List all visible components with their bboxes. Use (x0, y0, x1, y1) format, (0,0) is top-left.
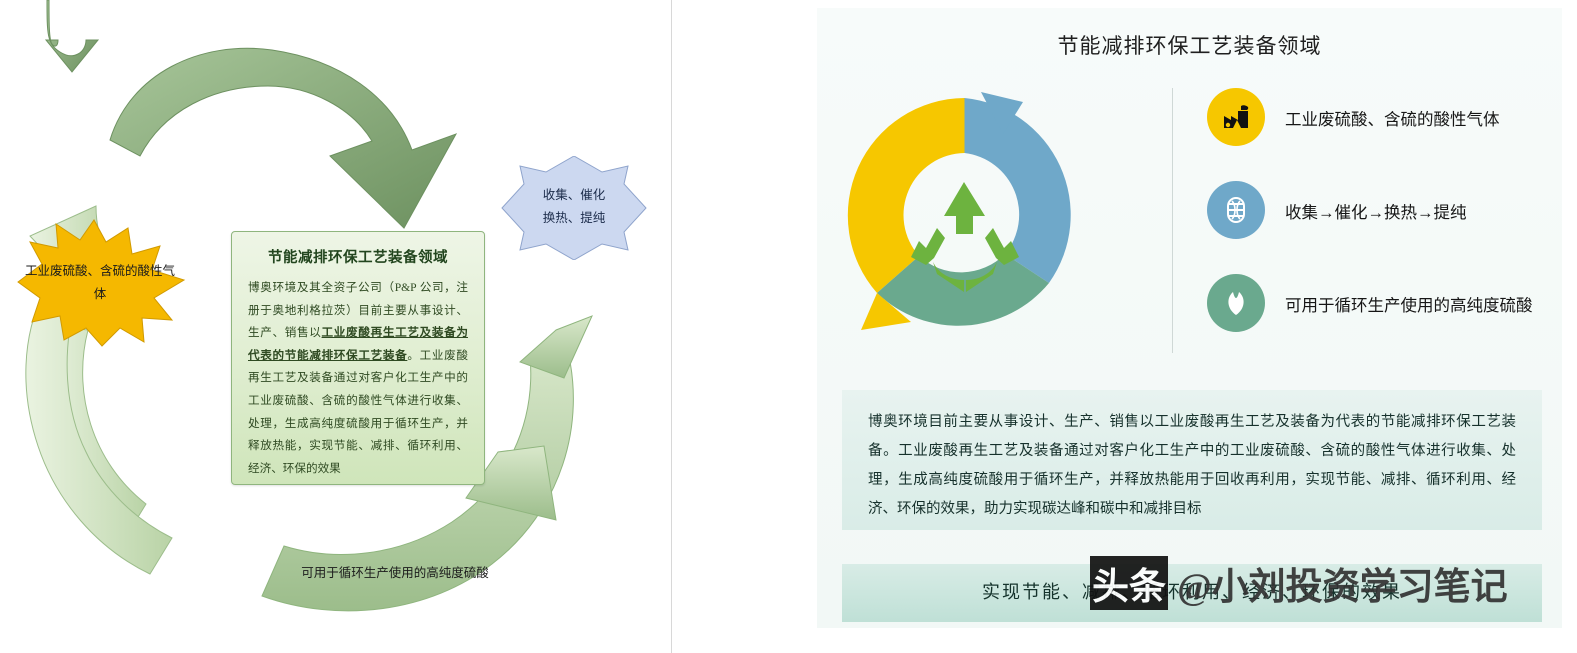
callout-blue-line1: 收集、催化 (498, 184, 650, 207)
leaf-icon-badge (1207, 274, 1265, 332)
leaf-icon (1221, 288, 1251, 318)
callout-blue-line2: 换热、提纯 (498, 207, 650, 230)
list-item: 收集→催化→换热→提纯 (1207, 181, 1547, 266)
factory-icon (1221, 102, 1251, 132)
factory-icon-badge (1207, 88, 1265, 146)
heat-exchanger-icon (1221, 195, 1251, 225)
card-vertical-rule (1172, 88, 1173, 353)
callout-blue-label: 收集、催化 换热、提纯 (498, 184, 650, 230)
heat-exchanger-icon-badge (1207, 181, 1265, 239)
list-item-label: 收集→催化→换热→提纯 (1285, 199, 1577, 223)
list-item: 工业废硫酸、含硫的酸性气体 (1207, 88, 1547, 173)
left-panel: 工业废硫酸、含硫的酸性气体 收集、催化 换热、提纯 节能减排环保工艺装备领域 博… (0, 0, 671, 653)
center-box-paragraph: 博奥环境及其全资子公司（P&P 公司，注册于奥地利格拉茨）目前主要从事设计、生产… (248, 277, 468, 480)
list-item-label: 工业废硫酸、含硫的酸性气体 (1285, 106, 1577, 130)
paragraph-tail: 。工业废酸再生工艺及装备通过对客户化工生产中的工业废硫酸、含硫的酸性气体进行收集… (248, 349, 468, 475)
callout-yellow-label: 工业废硫酸、含硫的酸性气体 (24, 260, 176, 306)
page-root: 工业废硫酸、含硫的酸性气体 收集、催化 换热、提纯 节能减排环保工艺装备领域 博… (0, 0, 1577, 653)
description-block: 博奥环境目前主要从事设计、生产、销售以工业废酸再生工艺及装备为代表的节能减排环保… (842, 390, 1542, 530)
recycle-cycle-graphic (827, 78, 1102, 353)
feature-list: 工业废硫酸、含硫的酸性气体 收集→催化→换热→提纯 (1207, 88, 1547, 367)
info-card: 节能减排环保工艺装备领域 (817, 8, 1562, 628)
center-box-title: 节能减排环保工艺装备领域 (232, 246, 484, 267)
list-item-label: 可用于循环生产使用的高纯度硫酸 (1285, 292, 1577, 316)
card-title: 节能减排环保工艺装备领域 (817, 30, 1562, 60)
center-green-box: 节能减排环保工艺装备领域 博奥环境及其全资子公司（P&P 公司，注册于奥地利格拉… (231, 231, 485, 485)
watermark-text: @小刘投资学习笔记 (1168, 567, 1508, 608)
watermark-prefix: 头条 (1090, 556, 1168, 610)
cycle-segment-yellow (848, 98, 965, 293)
callout-yellow-star: 工业废硫酸、含硫的酸性气体 (10, 218, 190, 348)
list-item: 可用于循环生产使用的高纯度硫酸 (1207, 274, 1547, 359)
callout-blue-star: 收集、催化 换热、提纯 (498, 156, 650, 260)
bottom-caption: 可用于循环生产使用的高纯度硫酸 (255, 562, 535, 581)
watermark: 头条 @小刘投资学习笔记 (1090, 556, 1508, 610)
description-text: 博奥环境目前主要从事设计、生产、销售以工业废酸再生工艺及装备为代表的节能减排环保… (868, 408, 1516, 524)
